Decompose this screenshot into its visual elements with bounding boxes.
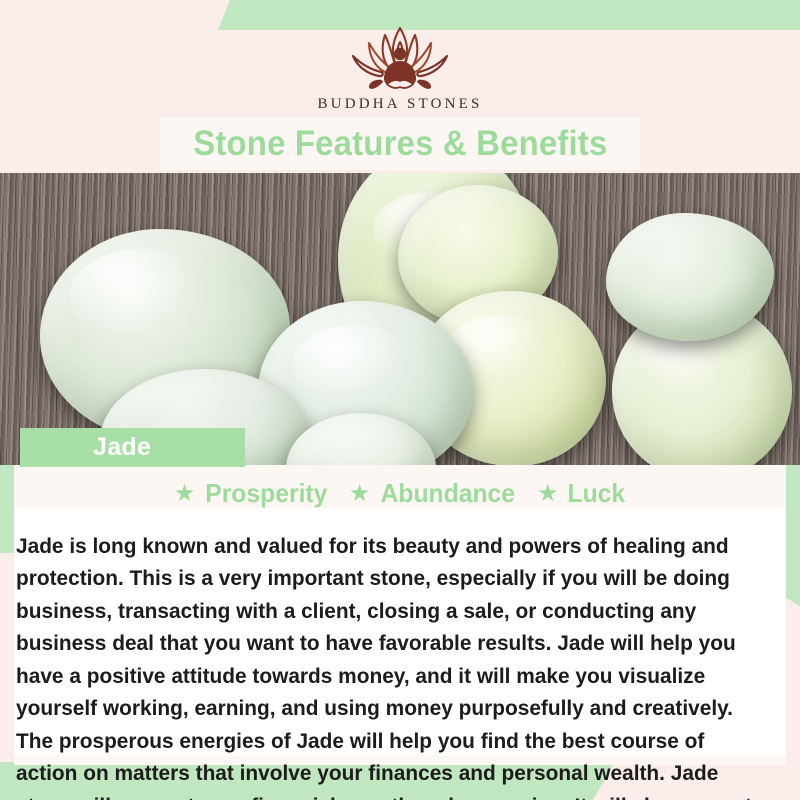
stone-name-band: Jade: [20, 428, 245, 467]
star-icon: ★: [537, 482, 559, 506]
keyword-item: ★ Luck: [537, 478, 626, 509]
keyword-label: Abundance: [381, 478, 515, 509]
keyword-label: Luck: [567, 478, 625, 509]
keyword-item: ★ Prosperity: [174, 478, 331, 509]
stone-name: Jade: [93, 433, 151, 462]
page-title: Stone Features & Benefits: [193, 124, 607, 164]
stone-info-card: BUDDHA STONES Stone Features & Benefits …: [0, 0, 800, 800]
keyword-label: Prosperity: [206, 478, 328, 509]
lotus-meditation-icon: [325, 22, 475, 94]
keyword-item: ★ Abundance: [349, 478, 519, 509]
stone-gloss: [292, 325, 414, 403]
brand-name: BUDDHA STONES: [0, 96, 800, 113]
stone-description: Jade is long known and valued for its be…: [16, 530, 765, 800]
stone-photo: [0, 173, 800, 465]
star-icon: ★: [349, 482, 371, 506]
title-banner: Stone Features & Benefits: [160, 117, 640, 170]
star-icon: ★: [174, 482, 196, 506]
stone-gloss: [70, 249, 210, 344]
brand-logo: BUDDHA STONES: [0, 22, 800, 113]
keyword-list: ★ Prosperity ★ Abundance ★ Luck: [0, 478, 800, 509]
